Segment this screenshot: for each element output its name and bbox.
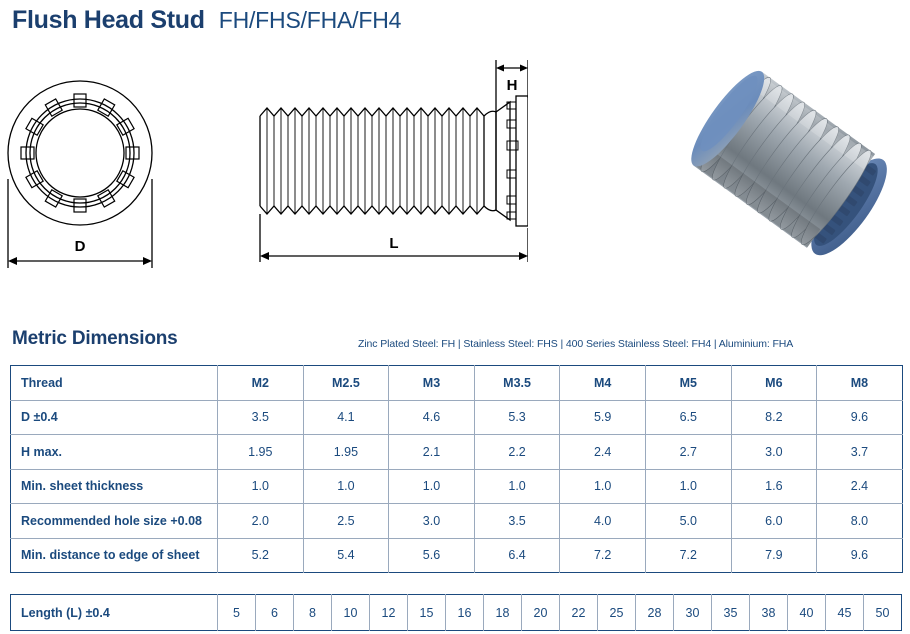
cell: 4.1	[303, 400, 389, 435]
column-header-m3: M3	[389, 366, 475, 401]
cell: 1.95	[303, 435, 389, 470]
cell: 5.2	[218, 538, 304, 573]
length-cell: 25	[598, 595, 636, 631]
length-cell: 45	[826, 595, 864, 631]
row-label-recommended-hole-size: Recommended hole size +0.08	[11, 504, 218, 539]
cell: 5.4	[303, 538, 389, 573]
table-row: H max. 1.95 1.95 2.1 2.2 2.4 2.7 3.0 3.7	[11, 435, 903, 470]
length-cell: 16	[446, 595, 484, 631]
cell: 1.0	[560, 469, 646, 504]
table-row: Min. sheet thickness 1.0 1.0 1.0 1.0 1.0…	[11, 469, 903, 504]
column-header-thread: Thread	[11, 366, 218, 401]
row-label-min-distance-to-edge: Min. distance to edge of sheet	[11, 538, 218, 573]
length-cell: 22	[560, 595, 598, 631]
cell: 5.9	[560, 400, 646, 435]
cell: 2.4	[817, 469, 903, 504]
arrowhead-left-h	[496, 65, 504, 72]
length-cell: 10	[332, 595, 370, 631]
cell: 1.6	[731, 469, 817, 504]
row-label-h-max: H max.	[11, 435, 218, 470]
length-cell: 5	[218, 595, 256, 631]
length-cell: 35	[712, 595, 750, 631]
cell: 9.6	[817, 538, 903, 573]
cell: 5.3	[474, 400, 560, 435]
cell: 3.5	[218, 400, 304, 435]
arrowhead-right-l	[519, 252, 528, 260]
table-header-row: Thread M2 M2.5 M3 M3.5 M4 M5 M6 M8	[11, 366, 903, 401]
metric-dimensions-heading: Metric Dimensions	[12, 328, 178, 350]
cell: 1.0	[303, 469, 389, 504]
length-cell: 6	[256, 595, 294, 631]
cell: 4.6	[389, 400, 475, 435]
cell: 2.0	[218, 504, 304, 539]
cell: 8.0	[817, 504, 903, 539]
length-row: Length (L) ±0.4 5 6 8 10 12 15 16 18 20 …	[11, 595, 902, 631]
cell: 1.0	[645, 469, 731, 504]
end-view-drawing: D	[4, 46, 224, 296]
cell: 2.4	[560, 435, 646, 470]
row-label-length: Length (L) ±0.4	[11, 595, 218, 631]
column-header-m4: M4	[560, 366, 646, 401]
cell: 1.0	[389, 469, 475, 504]
page-title-codes: FH/FHS/FHA/FH4	[219, 7, 401, 34]
length-cell: 12	[370, 595, 408, 631]
materials-note: Zinc Plated Steel: FH | Stainless Steel:…	[358, 338, 793, 350]
dimension-label-h: H	[507, 77, 518, 94]
length-cell: 18	[484, 595, 522, 631]
side-view-drawing: H L	[248, 46, 528, 296]
cell: 3.0	[389, 504, 475, 539]
length-table: Length (L) ±0.4 5 6 8 10 12 15 16 18 20 …	[10, 594, 902, 631]
3d-render-flush-head-stud	[668, 56, 904, 266]
length-cell: 15	[408, 595, 446, 631]
table-row: D ±0.4 3.5 4.1 4.6 5.3 5.9 6.5 8.2 9.6	[11, 400, 903, 435]
column-header-m8: M8	[817, 366, 903, 401]
cell: 7.2	[560, 538, 646, 573]
length-cell: 38	[750, 595, 788, 631]
dimension-label-l: L	[389, 235, 398, 252]
cell: 2.5	[303, 504, 389, 539]
column-header-m3-5: M3.5	[474, 366, 560, 401]
cell: 6.0	[731, 504, 817, 539]
cell: 3.7	[817, 435, 903, 470]
column-header-m5: M5	[645, 366, 731, 401]
column-header-m2: M2	[218, 366, 304, 401]
arrowhead-right-h	[520, 65, 528, 72]
length-cell: 40	[788, 595, 826, 631]
row-label-d: D ±0.4	[11, 400, 218, 435]
arrowhead-left-l	[260, 252, 269, 260]
page-title: Flush Head Stud FH/FHS/FHA/FH4	[12, 6, 401, 35]
cell: 7.9	[731, 538, 817, 573]
cell: 5.6	[389, 538, 475, 573]
cell: 1.0	[474, 469, 560, 504]
column-header-m2-5: M2.5	[303, 366, 389, 401]
cell: 3.5	[474, 504, 560, 539]
row-label-min-sheet-thickness: Min. sheet thickness	[11, 469, 218, 504]
dimension-label-d: D	[75, 238, 86, 255]
cell: 9.6	[817, 400, 903, 435]
length-cell: 20	[522, 595, 560, 631]
cell: 2.7	[645, 435, 731, 470]
cell: 1.0	[218, 469, 304, 504]
column-header-m6: M6	[731, 366, 817, 401]
length-cell: 50	[864, 595, 902, 631]
length-cell: 28	[636, 595, 674, 631]
cell: 4.0	[560, 504, 646, 539]
cell: 6.4	[474, 538, 560, 573]
cell: 2.1	[389, 435, 475, 470]
length-cell: 8	[294, 595, 332, 631]
page-title-main: Flush Head Stud	[12, 6, 205, 35]
table-row: Min. distance to edge of sheet 5.2 5.4 5…	[11, 538, 903, 573]
datasheet-page: Flush Head Stud FH/FHS/FHA/FH4	[0, 0, 910, 634]
arrowhead-left-d	[8, 257, 17, 265]
dimensions-table: Thread M2 M2.5 M3 M3.5 M4 M5 M6 M8 D ±0.…	[10, 365, 903, 573]
length-cell: 30	[674, 595, 712, 631]
arrowhead-right-d	[143, 257, 152, 265]
table-row: Recommended hole size +0.08 2.0 2.5 3.0 …	[11, 504, 903, 539]
cell: 7.2	[645, 538, 731, 573]
cell: 8.2	[731, 400, 817, 435]
cell: 1.95	[218, 435, 304, 470]
cell: 5.0	[645, 504, 731, 539]
cell: 2.2	[474, 435, 560, 470]
cell: 6.5	[645, 400, 731, 435]
cell: 3.0	[731, 435, 817, 470]
